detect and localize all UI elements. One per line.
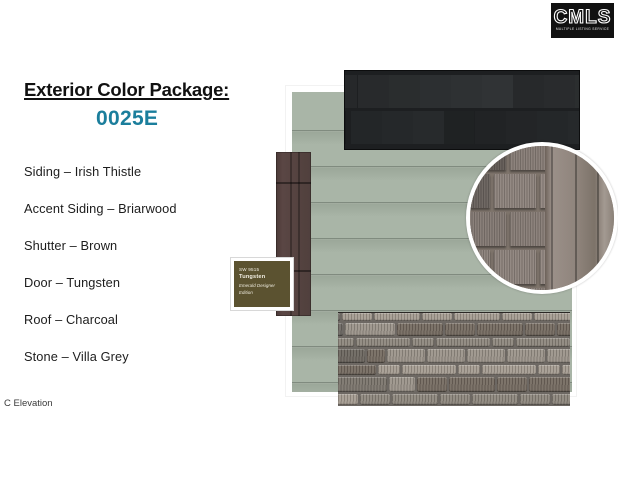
stone-ledge xyxy=(538,365,560,375)
elevation-label: C Elevation xyxy=(4,398,53,409)
detail-inset-circle xyxy=(466,142,618,294)
stone-ledge xyxy=(342,313,372,321)
stone-ledge xyxy=(338,349,365,363)
roof-shingle-tab xyxy=(568,111,580,144)
stone-ledge xyxy=(534,313,570,321)
stone-ledge xyxy=(516,338,570,347)
logo-subtitle: MULTIPLE LISTING SERVICE xyxy=(556,27,609,32)
stone-ledge xyxy=(338,338,354,347)
roof-swatch xyxy=(344,70,580,150)
logo-letter-l: L xyxy=(585,7,598,28)
stone-ledge xyxy=(557,323,570,336)
shake-panel xyxy=(494,174,536,208)
paint-chip-collection-2: Edition xyxy=(239,290,285,296)
shake-panel xyxy=(466,174,490,208)
logo-letter-s: S xyxy=(598,7,612,28)
roof-shingle-tab xyxy=(575,75,580,108)
paint-chip-name: Tungsten xyxy=(239,274,285,282)
logo-letter-c: C xyxy=(554,7,569,28)
stone-ledge xyxy=(454,313,500,321)
paint-chip-collection: Emerald Designer xyxy=(239,283,285,289)
stone-ledge xyxy=(552,394,570,405)
roof-shingle-tab xyxy=(482,75,515,108)
roof-shingle-tab xyxy=(344,75,357,108)
roof-shingle-tab xyxy=(420,75,455,108)
stone-ledge xyxy=(507,349,545,363)
shutter-batten xyxy=(298,152,300,316)
roof-shingle-tab xyxy=(382,111,414,144)
spec-item-shutter: Shutter – Brown xyxy=(24,238,274,253)
roof-shingle-tab xyxy=(513,75,545,108)
stone-ledge xyxy=(338,323,343,336)
roof-shingle-tab xyxy=(444,111,474,144)
stone-ledge xyxy=(338,365,376,375)
stone-ledge xyxy=(458,365,480,375)
stone-ledge xyxy=(529,377,570,392)
stone-ledge xyxy=(367,349,385,363)
spec-item-accent-siding: Accent Siding – Briarwood xyxy=(24,201,274,216)
door-detail xyxy=(545,146,614,290)
stone-ledge xyxy=(345,323,395,336)
stone-ledge xyxy=(547,349,570,363)
stone-ledge xyxy=(378,365,400,375)
stone-swatch xyxy=(338,312,570,406)
stone-ledge xyxy=(392,394,438,405)
stone-ledge xyxy=(497,377,527,392)
spec-item-stone: Stone – Villa Grey xyxy=(24,349,274,364)
stone-ledge xyxy=(397,323,443,336)
stone-ledge xyxy=(482,365,536,375)
spec-item-siding: Siding – Irish Thistle xyxy=(24,164,274,179)
stone-ledge xyxy=(338,394,358,405)
logo-letter-m: M xyxy=(568,7,585,28)
roof-shingle-tab xyxy=(537,111,572,144)
shake-panel xyxy=(494,250,536,284)
stone-ledge xyxy=(449,377,495,392)
shake-panel xyxy=(466,142,506,170)
roof-shingle-tab xyxy=(413,111,444,144)
stone-ledge xyxy=(412,338,434,347)
stone-ledge xyxy=(477,323,523,336)
stone-ledge xyxy=(427,349,465,363)
shutter-rail xyxy=(276,182,311,184)
shake-panel xyxy=(466,212,506,246)
stone-ledge xyxy=(422,313,452,321)
stone-ledge xyxy=(402,365,456,375)
page-title: Exterior Color Package: xyxy=(24,79,229,101)
stone-ledge xyxy=(389,377,415,392)
roof-shingle-tab xyxy=(544,75,575,108)
stone-ledge xyxy=(472,394,518,405)
stone-ledge xyxy=(467,349,505,363)
stone-ledge xyxy=(436,338,490,347)
door-edge-line-3 xyxy=(597,146,599,290)
roof-shingle-tab xyxy=(451,75,485,108)
stone-ledge xyxy=(338,377,387,392)
stone-ledge xyxy=(445,323,475,336)
stone-ledge xyxy=(562,365,570,375)
stone-ledge xyxy=(374,313,420,321)
shake-siding-detail xyxy=(470,146,548,290)
stone-ledge xyxy=(387,349,425,363)
shake-panel xyxy=(466,250,490,284)
roof-shingle-tab xyxy=(351,111,384,144)
cmls-logo: CMLS MULTIPLE LISTING SERVICE xyxy=(551,3,614,38)
stone-ledge xyxy=(520,394,550,405)
stone-ledge xyxy=(417,377,447,392)
spec-item-roof: Roof – Charcoal xyxy=(24,312,274,327)
stone-ledge xyxy=(338,313,340,321)
stone-ledge xyxy=(356,338,410,347)
paint-chip-tungsten: SW 9515 Tungsten Emerald Designer Editio… xyxy=(231,258,293,310)
stone-ledge xyxy=(502,313,532,321)
stone-ledge xyxy=(440,394,470,405)
door-edge-line-2 xyxy=(575,146,577,290)
stone-ledge xyxy=(525,323,555,336)
logo-wordmark: CMLS xyxy=(554,9,612,27)
package-code: 0025E xyxy=(96,107,158,131)
door-edge-line-1 xyxy=(551,146,553,290)
stone-ledge xyxy=(360,394,390,405)
stone-ledge xyxy=(492,338,514,347)
roof-shingle-tab xyxy=(344,111,346,144)
